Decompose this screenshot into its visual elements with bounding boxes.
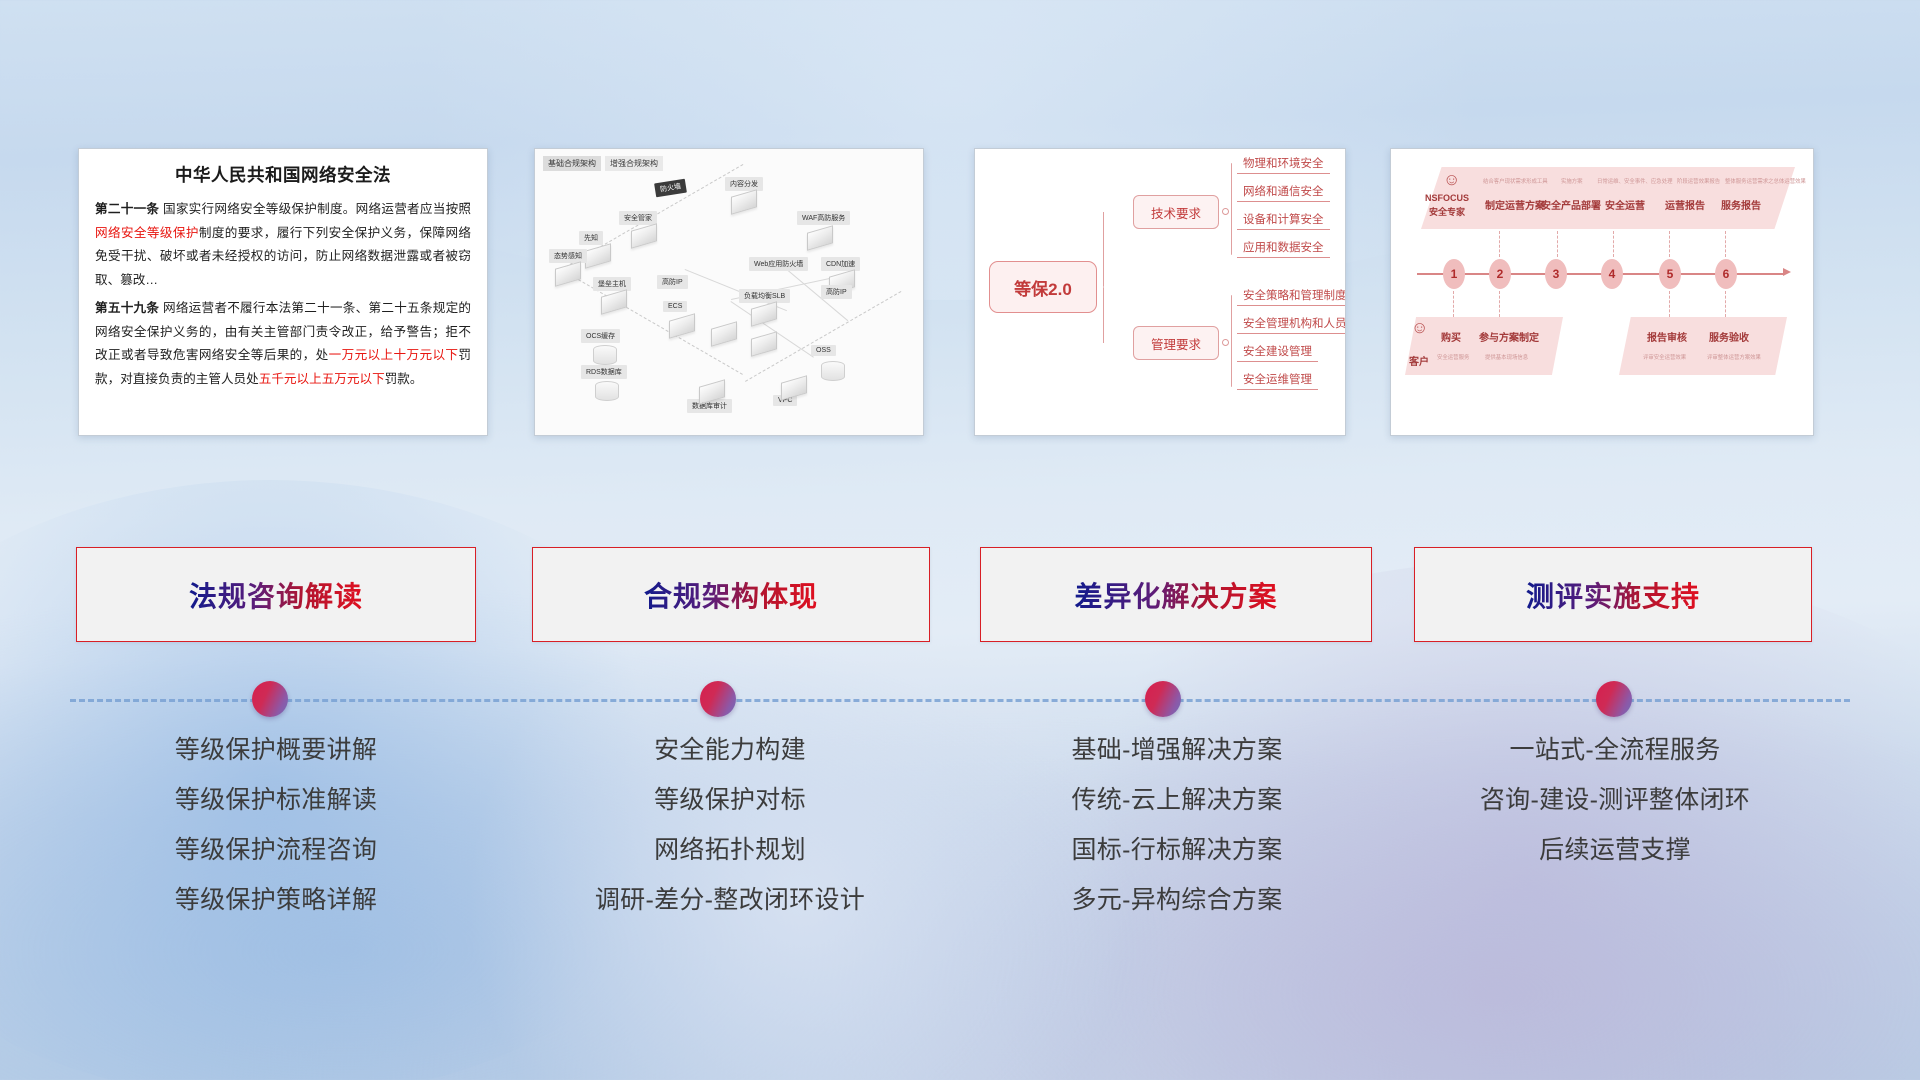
timeline-dot-4[interactable] <box>1596 681 1632 717</box>
nsfocus-axis-arrow <box>1783 268 1791 276</box>
nsfocus-process-diagram: ☺ NSFOCUS 安全专家 结合客户现状需求形成工具 实施方案 日常运维、安全… <box>1391 149 1813 435</box>
detail-list-4: 一站式-全流程服务 咨询-建设-测评整体闭环 后续运营支撑 <box>1410 738 1820 888</box>
architecture-cube <box>751 301 777 326</box>
mindmap-node-dot <box>1222 208 1229 215</box>
nsfocus-top-label: 制定运营方案 <box>1485 197 1545 212</box>
architecture-cube <box>807 225 833 250</box>
timeline-dot-2[interactable] <box>700 681 736 717</box>
nsfocus-tick <box>1453 291 1454 317</box>
architecture-cube <box>781 375 807 400</box>
nsfocus-tick <box>1669 231 1670 257</box>
nsfocus-bottom-sub: 提供基本现场信息 <box>1485 353 1528 361</box>
architecture-node-anti-ddos-ip: 高防IP <box>821 285 852 299</box>
headline-box-1[interactable]: 法规咨询解读 <box>76 547 476 642</box>
nsfocus-bottom-label: 报告审核 <box>1647 329 1687 344</box>
architecture-cube <box>601 289 627 314</box>
timeline-dot-1[interactable] <box>252 681 288 717</box>
list-item: 后续运营支撑 <box>1410 838 1820 863</box>
nsfocus-tick <box>1725 231 1726 257</box>
detail-list-3: 基础-增强解决方案 传统-云上解决方案 国标-行标解决方案 多元-异构综合方案 <box>972 738 1382 938</box>
nsfocus-tick <box>1613 231 1614 257</box>
mindmap-leaf: 设备和计算安全 <box>1237 211 1330 230</box>
architecture-node-waf: 高防IP <box>657 275 688 289</box>
list-item: 等级保护流程咨询 <box>76 838 476 863</box>
list-item: 安全能力构建 <box>520 738 940 763</box>
mindmap-connector <box>1103 287 1104 343</box>
nsfocus-tick <box>1725 291 1726 317</box>
architecture-guide-line <box>561 269 743 375</box>
architecture-cylinder <box>595 381 619 401</box>
law-article-21-label: 第二十一条 <box>95 202 159 216</box>
list-item: 基础-增强解决方案 <box>972 738 1382 763</box>
list-item: 网络拓扑规划 <box>520 838 940 863</box>
nsfocus-tick <box>1669 291 1670 317</box>
nsfocus-step-5: 5 <box>1659 259 1681 289</box>
nsfocus-customer-label: 客户 <box>1409 353 1429 368</box>
expert-person-icon: ☺ <box>1443 171 1460 188</box>
mindmap-connector <box>1231 163 1232 255</box>
architecture-cube <box>731 189 757 214</box>
architecture-diagram: 基础合规架构 增强合规架构 防火墙 安全管家 先知 态势感知 内容分发 WAF高… <box>535 149 923 435</box>
list-item: 多元-异构综合方案 <box>972 888 1382 913</box>
law-article-59-highlight-b: 五千元以上五万元以下 <box>259 372 385 386</box>
customer-person-icon: ☺ <box>1411 319 1428 336</box>
nsfocus-top-label: 安全运营 <box>1605 197 1645 212</box>
mindmap-leaf: 安全策略和管理制度 <box>1237 287 1346 306</box>
nsfocus-bottom-label: 参与方案制定 <box>1479 329 1539 344</box>
nsfocus-bottom-sub: 评审安全运营效果 <box>1643 353 1686 361</box>
mindmap-node-dot <box>1222 339 1229 346</box>
nsfocus-bottom-sub: 安全运营服务 <box>1437 353 1469 361</box>
headline-box-2[interactable]: 合规架构体现 <box>532 547 930 642</box>
detail-list-2: 安全能力构建 等级保护对标 网络拓扑规划 调研-差分-整改闭环设计 <box>520 738 940 938</box>
architecture-cube <box>751 331 777 356</box>
headline-text-2: 合规架构体现 <box>644 575 818 615</box>
nsfocus-bottom-band-right <box>1619 317 1787 375</box>
law-title: 中华人民共和国网络安全法 <box>95 162 471 187</box>
mindmap-leaf: 网络和通信安全 <box>1237 183 1330 202</box>
nsfocus-top-label: 运营报告 <box>1665 197 1705 212</box>
nsfocus-bottom-sub: 评审整体运营方案效果 <box>1707 353 1761 361</box>
law-article-59: 第五十九条 网络运营者不履行本法第二十一条、第二十五条规定的网络安全保护义务的，… <box>95 297 471 391</box>
nsfocus-top-sub: 阶段运营效果报告 <box>1677 177 1720 185</box>
list-item: 等级保护标准解读 <box>76 788 476 813</box>
architecture-node-cdn: 内容分发 <box>725 177 763 191</box>
timeline-dot-3[interactable] <box>1145 681 1181 717</box>
timeline-dashed-line <box>70 699 1850 702</box>
mindmap-connector <box>1231 295 1232 387</box>
mindmap-leaf: 物理和环境安全 <box>1237 155 1330 174</box>
mindmap-leaf: 应用和数据安全 <box>1237 239 1330 258</box>
mindmap-leaf: 安全管理机构和人员 <box>1237 315 1346 334</box>
nsfocus-top-sub: 整体服务运营需求之总体运营效果 <box>1725 177 1806 185</box>
card-cybersecurity-law[interactable]: 中华人民共和国网络安全法 第二十一条 国家实行网络安全等级保护制度。网络运营者应… <box>78 148 488 436</box>
list-item: 调研-差分-整改闭环设计 <box>520 888 940 913</box>
architecture-node-xianzhi: 先知 <box>579 231 603 245</box>
architecture-node-oss: OSS <box>811 345 836 356</box>
nsfocus-step-6: 6 <box>1715 259 1737 289</box>
mindmap-leaf: 安全运维管理 <box>1237 371 1318 390</box>
law-content: 中华人民共和国网络安全法 第二十一条 国家实行网络安全等级保护制度。网络运营者应… <box>79 149 487 401</box>
architecture-cylinder <box>821 361 845 381</box>
detail-list-1: 等级保护概要讲解 等级保护标准解读 等级保护流程咨询 等级保护策略详解 <box>76 738 476 938</box>
law-article-21: 第二十一条 国家实行网络安全等级保护制度。网络运营者应当按照网络安全等级保护制度… <box>95 198 471 292</box>
detail-lists-row: 等级保护概要讲解 等级保护标准解读 等级保护流程咨询 等级保护策略详解 安全能力… <box>0 738 1920 948</box>
card-compliance-architecture[interactable]: 基础合规架构 增强合规架构 防火墙 安全管家 先知 态势感知 内容分发 WAF高… <box>534 148 924 436</box>
nsfocus-expert-line2: 安全专家 <box>1429 205 1465 218</box>
mindmap-branch-management: 管理要求 <box>1133 326 1219 360</box>
nsfocus-step-2: 2 <box>1489 259 1511 289</box>
nsfocus-top-sub: 实施方案 <box>1561 177 1583 185</box>
timeline <box>0 690 1920 710</box>
architecture-node-security-steward: 安全管家 <box>619 211 657 225</box>
architecture-cube <box>711 321 737 346</box>
law-article-59-label: 第五十九条 <box>95 301 159 315</box>
architecture-cylinder <box>593 345 617 365</box>
nsfocus-expert-line1: NSFOCUS <box>1425 193 1469 203</box>
architecture-node-waf-hidefense: WAF高防服务 <box>797 211 850 225</box>
architecture-tab-basic[interactable]: 基础合规架构 <box>543 156 601 171</box>
nsfocus-top-label: 服务报告 <box>1721 197 1761 212</box>
architecture-node-ocs-cache: OCS缓存 <box>581 329 620 343</box>
mindmap-branch-technical: 技术要求 <box>1133 195 1219 229</box>
mindmap: 等保2.0 技术要求 物理和环境安全 网络和通信安全 设备和计算安全 应用和数据… <box>975 149 1345 435</box>
nsfocus-tick <box>1557 231 1558 257</box>
architecture-node-situational-awareness: 态势感知 <box>549 249 587 263</box>
nsfocus-top-sub: 日常运维、安全事件、应急处理 <box>1597 177 1672 185</box>
list-item: 传统-云上解决方案 <box>972 788 1382 813</box>
architecture-cube <box>669 313 695 338</box>
list-item: 咨询-建设-测评整体闭环 <box>1410 788 1820 813</box>
nsfocus-tick <box>1499 231 1500 257</box>
mindmap-root: 等保2.0 <box>989 261 1097 313</box>
law-article-21-text-a: 国家实行网络安全等级保护制度。网络运营者应当按照 <box>159 202 471 216</box>
mindmap-leaf: 安全建设管理 <box>1237 343 1318 362</box>
headline-box-3[interactable]: 差异化解决方案 <box>980 547 1372 642</box>
architecture-node-firewall: 防火墙 <box>654 179 687 198</box>
mindmap-connector <box>1103 212 1104 287</box>
nsfocus-bottom-label: 购买 <box>1441 329 1461 344</box>
card-nsfocus-process[interactable]: ☺ NSFOCUS 安全专家 结合客户现状需求形成工具 实施方案 日常运维、安全… <box>1390 148 1814 436</box>
architecture-node-rds: RDS数据库 <box>581 365 627 379</box>
law-article-21-highlight: 网络安全等级保护 <box>95 226 199 240</box>
architecture-node-ecs: ECS <box>663 301 687 312</box>
nsfocus-step-1: 1 <box>1443 259 1465 289</box>
law-article-59-highlight-a: 一万元以上十万元以下 <box>329 348 459 362</box>
list-item: 等级保护对标 <box>520 788 940 813</box>
nsfocus-step-4: 4 <box>1601 259 1623 289</box>
card-dengbao-mindmap[interactable]: 等保2.0 技术要求 物理和环境安全 网络和通信安全 设备和计算安全 应用和数据… <box>974 148 1346 436</box>
nsfocus-top-label: 安全产品部署 <box>1541 197 1601 212</box>
nsfocus-bottom-label: 服务验收 <box>1709 329 1749 344</box>
architecture-cube <box>555 261 581 286</box>
headline-text-3: 差异化解决方案 <box>1074 575 1277 615</box>
list-item: 等级保护概要讲解 <box>76 738 476 763</box>
architecture-tabs[interactable]: 基础合规架构 增强合规架构 <box>543 156 663 171</box>
architecture-node-web-app-firewall: Web应用防火墙 <box>749 257 808 271</box>
nsfocus-step-3: 3 <box>1545 259 1567 289</box>
law-article-59-text-c: 罚款。 <box>385 372 423 386</box>
headline-text-1: 法规咨询解读 <box>189 575 363 615</box>
list-item: 国标-行标解决方案 <box>972 838 1382 863</box>
reference-cards-row: 中华人民共和国网络安全法 第二十一条 国家实行网络安全等级保护制度。网络运营者应… <box>0 148 1920 438</box>
headline-box-4[interactable]: 测评实施支持 <box>1414 547 1812 642</box>
architecture-cube <box>585 243 611 268</box>
list-item: 等级保护策略详解 <box>76 888 476 913</box>
headline-row: 法规咨询解读 合规架构体现 差异化解决方案 测评实施支持 <box>0 547 1920 643</box>
list-item: 一站式-全流程服务 <box>1410 738 1820 763</box>
headline-text-4: 测评实施支持 <box>1526 575 1700 615</box>
nsfocus-top-sub: 结合客户现状需求形成工具 <box>1483 177 1548 185</box>
nsfocus-tick <box>1499 291 1500 317</box>
architecture-node-slb: 负载均衡SLB <box>739 289 790 303</box>
architecture-tab-enhanced[interactable]: 增强合规架构 <box>605 156 663 171</box>
